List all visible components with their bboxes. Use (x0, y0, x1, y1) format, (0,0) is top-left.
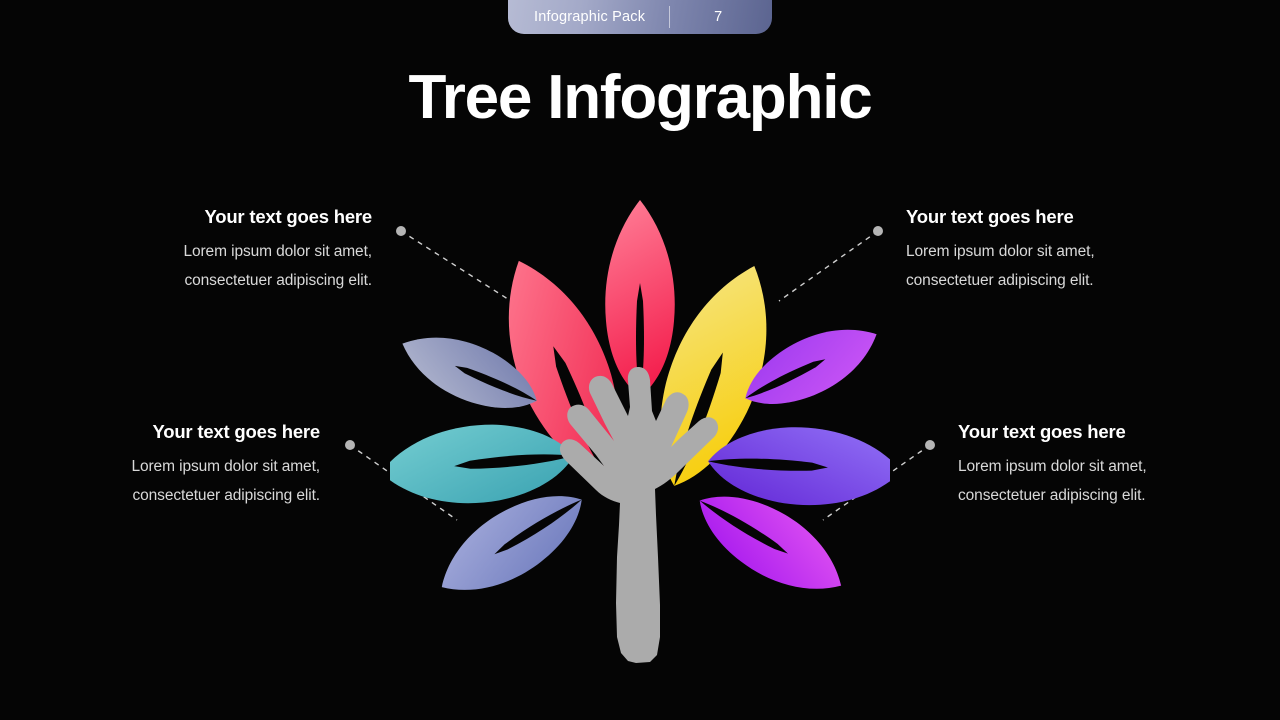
text-block-heading: Your text goes here (958, 421, 1218, 443)
slide-canvas: Infographic Pack 7 Tree Infographic (0, 0, 1280, 720)
text-block-heading: Your text goes here (906, 206, 1166, 228)
text-block-top-left: Your text goes here Lorem ipsum dolor si… (112, 206, 372, 295)
tree-infographic-graphic (390, 185, 890, 675)
text-block-body: Lorem ipsum dolor sit amet, consectetuer… (112, 237, 372, 295)
text-block-heading: Your text goes here (112, 206, 372, 228)
text-block-body: Lorem ipsum dolor sit amet, consectetuer… (60, 452, 320, 510)
text-block-bottom-left: Your text goes here Lorem ipsum dolor si… (60, 421, 320, 510)
text-block-heading: Your text goes here (60, 421, 320, 443)
text-block-body: Lorem ipsum dolor sit amet, consectetuer… (958, 452, 1218, 510)
text-block-top-right: Your text goes here Lorem ipsum dolor si… (906, 206, 1166, 295)
connector-dot-bottom-right (925, 440, 935, 450)
connector-dot-bottom-left (345, 440, 355, 450)
text-block-bottom-right: Your text goes here Lorem ipsum dolor si… (958, 421, 1218, 510)
text-block-body: Lorem ipsum dolor sit amet, consectetuer… (906, 237, 1166, 295)
leaf-right-large (706, 423, 890, 511)
